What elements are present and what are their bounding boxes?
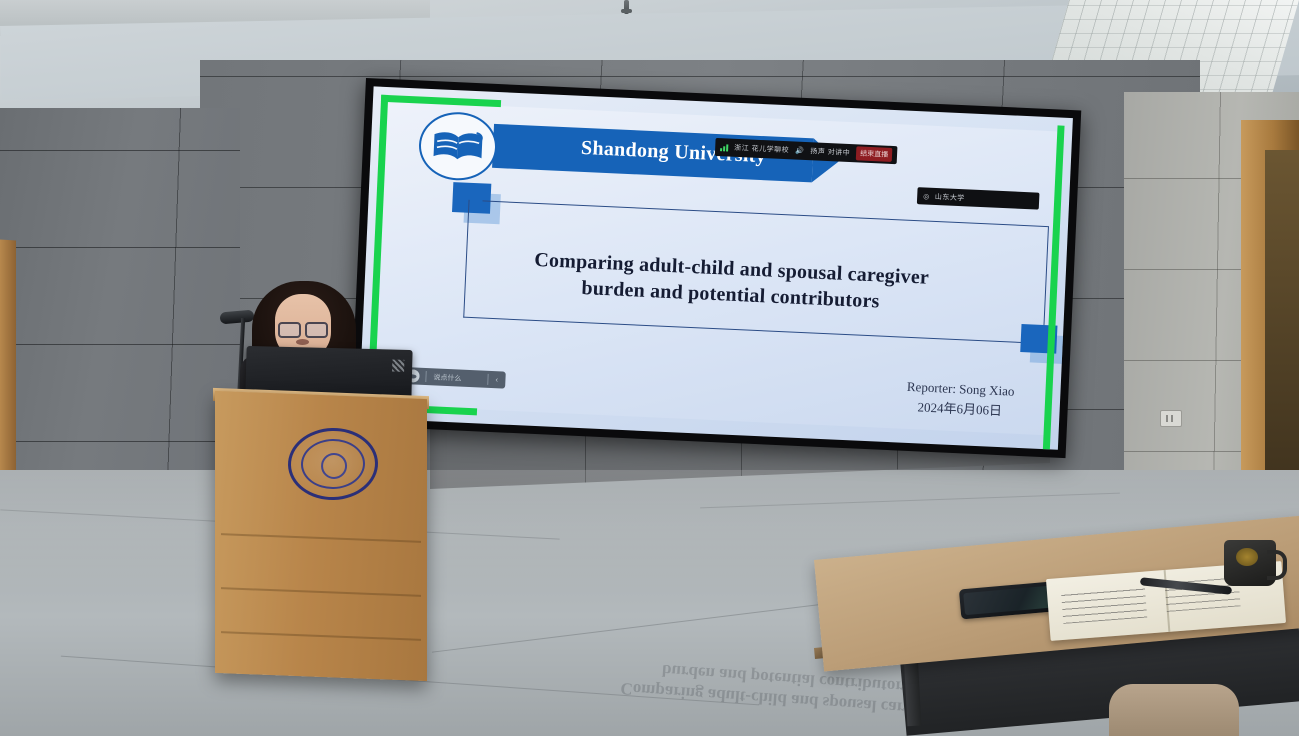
sprinkler-icon bbox=[624, 0, 629, 14]
channel-label: 山东大学 bbox=[935, 191, 965, 202]
laptop-logo bbox=[392, 360, 404, 372]
slide-title: Comparing adult-child and spousal caregi… bbox=[470, 245, 992, 320]
presenter-mouth bbox=[296, 339, 309, 345]
podium-groove bbox=[221, 533, 421, 543]
open-book-glyph bbox=[430, 129, 485, 163]
speaker-icon: 🔊 bbox=[795, 147, 805, 155]
notebook-handwriting bbox=[1061, 584, 1147, 624]
mug-icon[interactable] bbox=[1224, 540, 1276, 586]
stream-status-label: 浙江 花儿学聊校 bbox=[734, 143, 789, 155]
comment-input-bar[interactable]: 说点什么 ‹ bbox=[400, 367, 505, 389]
end-stream-button[interactable]: 结束直播 bbox=[856, 146, 893, 162]
signal-bars-icon bbox=[720, 144, 728, 151]
speaker-status-label: 扬声 对讲中 bbox=[810, 146, 850, 158]
comment-input-placeholder[interactable]: 说点什么 bbox=[426, 372, 487, 385]
glasses-left-lens bbox=[278, 322, 301, 338]
decorative-square-solid bbox=[452, 182, 491, 214]
chevron-left-icon[interactable]: ‹ bbox=[488, 375, 505, 385]
podium-groove bbox=[221, 631, 421, 641]
presentation-date: 2024年6月06日 bbox=[906, 396, 1014, 420]
display-screen[interactable]: Shandong University bbox=[359, 86, 1073, 449]
presentation-room-photo: Comparing adult-child and spousal caregi… bbox=[0, 0, 1299, 736]
user-icon: ◎ bbox=[923, 192, 930, 200]
glasses-right-lens bbox=[305, 322, 328, 338]
presentation-slide: Shandong University bbox=[373, 101, 1058, 435]
stream-channel-bar[interactable]: ◎ 山东大学 bbox=[917, 187, 1040, 210]
chair bbox=[1109, 684, 1239, 736]
podium-groove bbox=[221, 587, 421, 597]
frame-line-bottom bbox=[463, 317, 1032, 344]
power-outlet-icon bbox=[1160, 410, 1182, 427]
led-display[interactable]: Shandong University bbox=[350, 78, 1081, 458]
open-book-icon bbox=[417, 111, 498, 182]
mug-emblem bbox=[1236, 548, 1258, 566]
mug-handle bbox=[1267, 550, 1287, 580]
slide-reporter-block: Reporter: Song Xiao 2024年6月06日 bbox=[906, 377, 1015, 421]
